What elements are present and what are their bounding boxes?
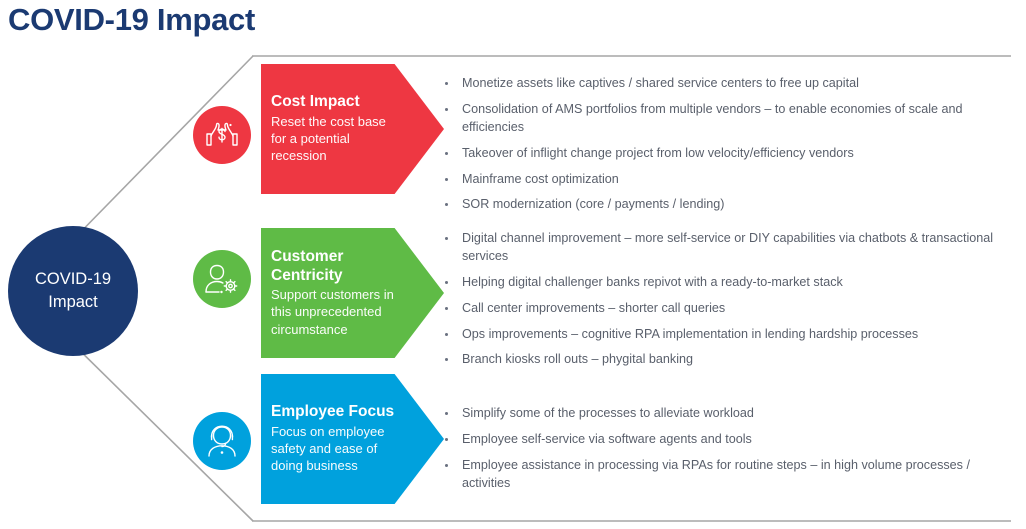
slide-root: COVID-19 Impact COVID-19 Impact Cost Imp…: [0, 0, 1026, 529]
hands-dollar-icon: [193, 106, 251, 164]
list-item: Ops improvements – cognitive RPA impleme…: [440, 326, 1018, 344]
arrow-band-employee[interactable]: Employee Focus Focus on employee safety …: [261, 374, 444, 504]
person-headset-icon: [193, 412, 251, 470]
arrow-subtitle-cost: Reset the cost base for a potential rece…: [271, 113, 402, 165]
list-item: Branch kiosks roll outs – phygital banki…: [440, 351, 1018, 369]
bullet-list-employee: Simplify some of the processes to allevi…: [440, 405, 1018, 501]
row-customer-centricity: Customer Centricity Support customers in…: [0, 228, 1026, 358]
bullet-list-cost: Monetize assets like captives / shared s…: [440, 75, 1018, 222]
list-item: Consolidation of AMS portfolios from mul…: [440, 101, 1018, 137]
arrow-subtitle-customer: Support customers in this unprecedented …: [271, 286, 402, 338]
list-item: Helping digital challenger banks repivot…: [440, 274, 1018, 292]
bullet-list-customer: Digital channel improvement – more self-…: [440, 230, 1018, 377]
row-cost-impact: Cost Impact Reset the cost base for a po…: [0, 64, 1026, 194]
arrow-band-customer[interactable]: Customer Centricity Support customers in…: [261, 228, 444, 358]
arrow-title-cost: Cost Impact: [271, 93, 402, 112]
list-item: Monetize assets like captives / shared s…: [440, 75, 1018, 93]
person-gear-icon: [193, 250, 251, 308]
list-item: Call center improvements – shorter call …: [440, 300, 1018, 318]
row-employee-focus: Employee Focus Focus on employee safety …: [0, 374, 1026, 504]
list-item: Employee assistance in processing via RP…: [440, 457, 1018, 493]
list-item: Employee self-service via software agent…: [440, 431, 1018, 449]
list-item: Takeover of inflight change project from…: [440, 145, 1018, 163]
arrow-subtitle-employee: Focus on employee safety and ease of doi…: [271, 423, 402, 475]
arrow-band-cost[interactable]: Cost Impact Reset the cost base for a po…: [261, 64, 444, 194]
arrow-title-employee: Employee Focus: [271, 403, 402, 422]
list-item: Simplify some of the processes to allevi…: [440, 405, 1018, 423]
list-item: Mainframe cost optimization: [440, 171, 1018, 189]
arrow-title-customer: Customer Centricity: [271, 248, 402, 285]
list-item: SOR modernization (core / payments / len…: [440, 196, 1018, 214]
list-item: Digital channel improvement – more self-…: [440, 230, 1018, 266]
